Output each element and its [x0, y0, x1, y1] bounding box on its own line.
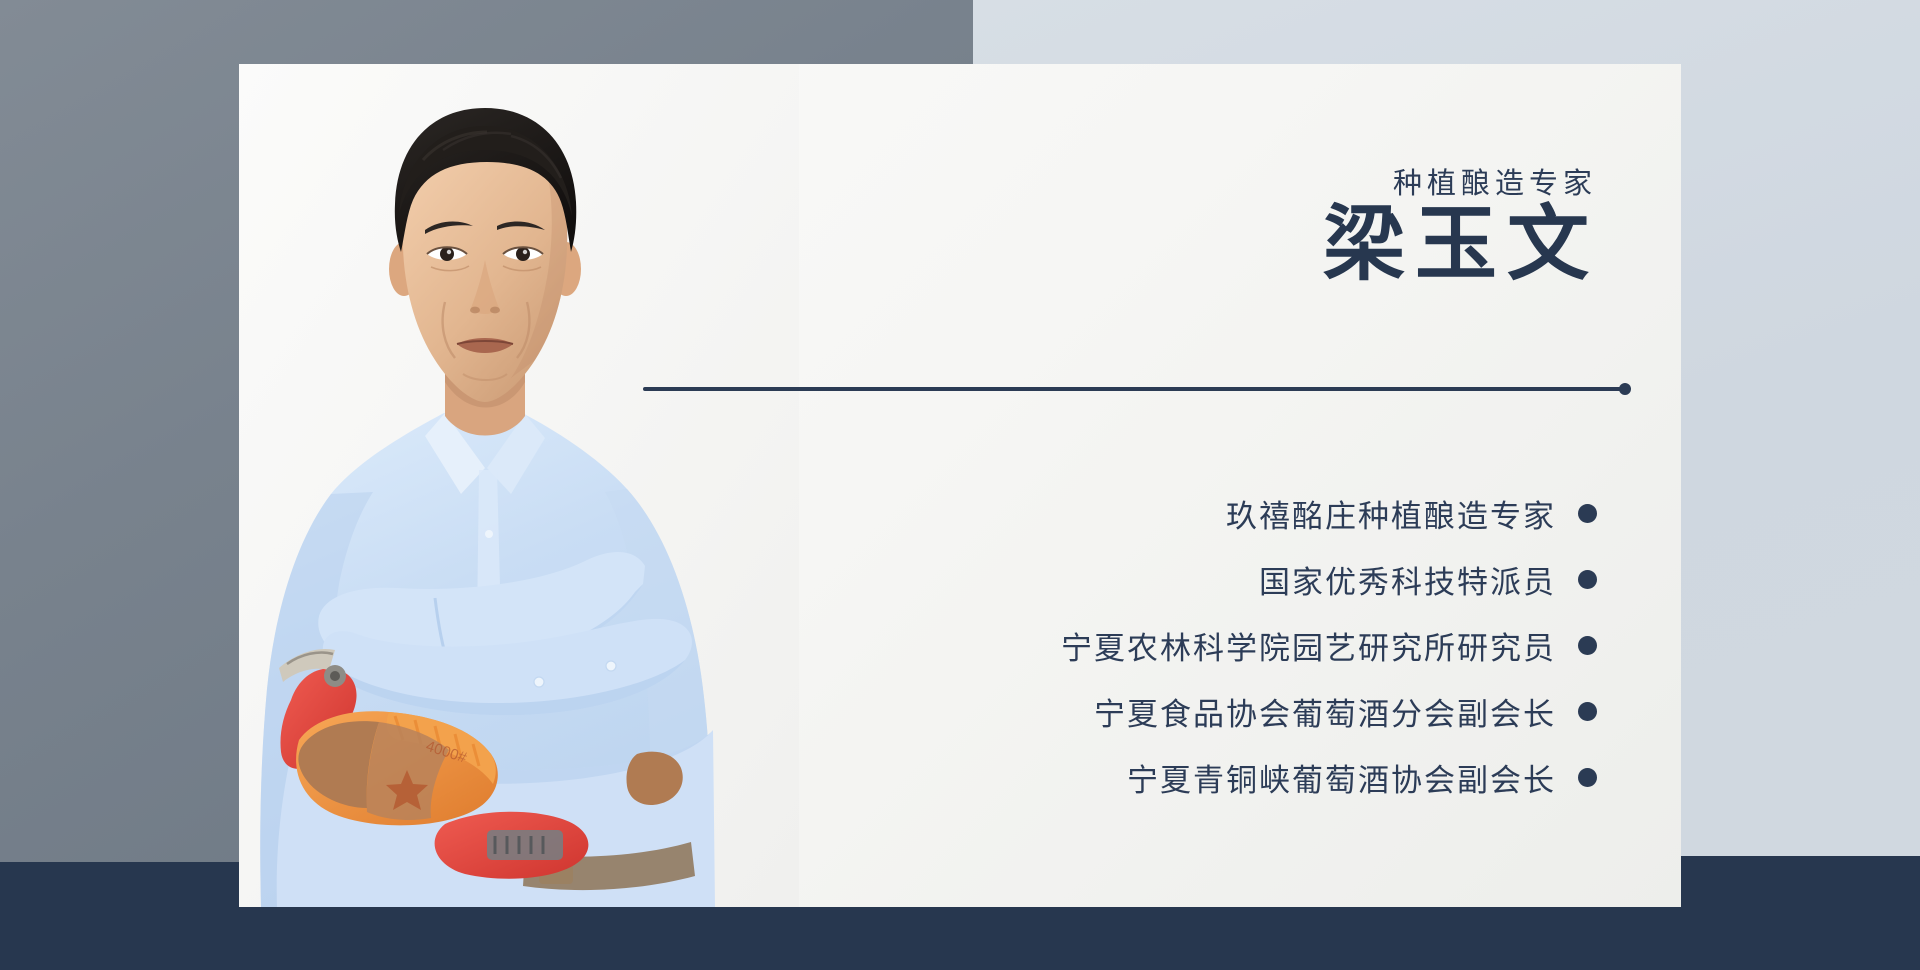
- credential-text: 宁夏食品协会葡萄酒分会副会长: [1094, 689, 1556, 734]
- profile-name: 梁玉文: [1323, 198, 1599, 292]
- bullet-icon: [1578, 504, 1597, 523]
- credential-text: 宁夏农林科学院园艺研究所研究员: [1061, 623, 1556, 668]
- list-item: 宁夏青铜峡葡萄酒协会副会长: [937, 744, 1597, 810]
- bullet-icon: [1578, 636, 1597, 655]
- list-item: 玖禧酩庄种植酿造专家: [937, 480, 1597, 546]
- list-item: 国家优秀科技特派员: [937, 546, 1597, 612]
- profile-subtitle: 种植酿造专家: [1393, 160, 1597, 202]
- credential-list: 玖禧酩庄种植酿造专家 国家优秀科技特派员 宁夏农林科学院园艺研究所研究员 宁夏食…: [937, 480, 1597, 810]
- credential-text: 宁夏青铜峡葡萄酒协会副会长: [1127, 755, 1556, 800]
- divider-end-dot: [1619, 383, 1631, 395]
- bullet-icon: [1578, 768, 1597, 787]
- bullet-icon: [1578, 570, 1597, 589]
- list-item: 宁夏食品协会葡萄酒分会副会长: [937, 678, 1597, 744]
- profile-card: 4000# 种植酿造专家 梁玉文 玖禧酩庄种植酿造专家: [239, 64, 1681, 907]
- credential-text: 玖禧酩庄种植酿造专家: [1226, 491, 1556, 536]
- portrait-photo: 4000#: [239, 64, 799, 907]
- list-item: 宁夏农林科学院园艺研究所研究员: [937, 612, 1597, 678]
- credential-text: 国家优秀科技特派员: [1259, 557, 1556, 602]
- background-navy-band-right: [1681, 856, 1920, 970]
- bullet-icon: [1578, 702, 1597, 721]
- profile-banner: 4000# 种植酿造专家 梁玉文 玖禧酩庄种植酿造专家: [0, 0, 1920, 970]
- divider-line: [643, 387, 1621, 391]
- profile-info: 种植酿造专家 梁玉文 玖禧酩庄种植酿造专家 国家优秀科技特派员 宁夏农林科学院园…: [939, 64, 1639, 907]
- divider: [643, 383, 1631, 395]
